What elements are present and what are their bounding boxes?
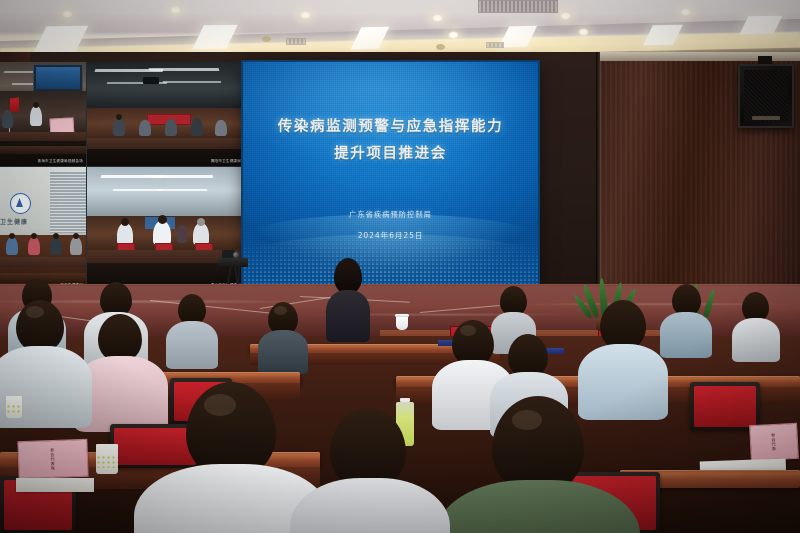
remote-person — [193, 223, 209, 245]
video-conference-wall: 珠海市卫生健康局视频会场 揭阳市卫生健康局 — [0, 62, 244, 290]
tea-cup — [396, 316, 408, 330]
remote-person — [117, 223, 133, 245]
audience-chair[interactable] — [690, 382, 760, 430]
video-panel-2: 揭阳市卫生健康局 — [87, 62, 244, 166]
air-vent-icon — [486, 42, 504, 48]
remote-person-head — [121, 218, 129, 226]
ceiling-speaker-icon — [262, 36, 271, 42]
attendee-head — [600, 300, 646, 350]
air-vent-icon — [478, 0, 558, 13]
remote-person — [165, 119, 177, 136]
panel-seam — [86, 62, 87, 290]
video-panel-label: 揭阳市卫生健康局 — [211, 159, 241, 164]
document-sheet — [16, 478, 94, 492]
remote-person-head — [9, 233, 15, 239]
remote-person-head — [33, 102, 39, 108]
downlight-icon — [432, 14, 443, 22]
remote-person — [2, 110, 13, 128]
remote-person — [30, 106, 42, 126]
hair-highlight — [460, 325, 476, 336]
remote-projector-icon — [143, 77, 159, 84]
attendee-head — [98, 314, 142, 362]
video-panel-label: 珠海市卫生健康局视频会场 — [37, 159, 83, 164]
wall-speaker-icon — [738, 64, 794, 128]
remote-person-head — [53, 233, 59, 239]
paper-cup — [6, 396, 22, 418]
china-flag-icon — [10, 97, 19, 112]
downlight-icon — [680, 8, 691, 16]
name-card-text: 参会代表 — [771, 433, 777, 451]
remote-person-head — [31, 233, 37, 239]
remote-table — [0, 146, 86, 154]
remote-person-head — [197, 218, 205, 226]
hair-highlight — [512, 410, 542, 430]
bottle-cap — [400, 398, 411, 402]
downlight-icon — [62, 10, 73, 18]
ceiling-speaker-icon — [436, 44, 445, 50]
remote-person — [113, 118, 125, 136]
remote-sub-screen — [33, 64, 83, 92]
remote-person — [50, 237, 62, 255]
led-pixel-grid — [243, 62, 538, 288]
speaker-grille — [744, 70, 788, 122]
remote-person — [6, 237, 18, 255]
hair-highlight — [204, 394, 236, 416]
hair-highlight — [26, 306, 44, 318]
video-panel-1: 珠海市卫生健康局视频会场 — [0, 62, 86, 166]
cup-floral-pattern — [96, 455, 118, 469]
panel-seam — [0, 166, 244, 167]
remote-person-head — [158, 215, 167, 224]
downlight-icon — [300, 11, 311, 19]
remote-ceiling-light — [150, 175, 213, 178]
tea-cup-lid — [395, 314, 409, 317]
remote-table — [87, 138, 244, 149]
name-card[interactable]: 参会代表席 — [17, 439, 88, 479]
remote-ceiling-light — [149, 68, 220, 71]
paper-cup — [96, 444, 118, 474]
video-panel-3: 卫生健康 市卫生健康局 — [0, 167, 86, 290]
remote-person — [215, 120, 227, 136]
remote-person — [191, 118, 203, 136]
remote-ceiling-light — [157, 189, 208, 191]
remote-table — [0, 132, 86, 141]
speaker-badge — [752, 116, 780, 120]
remote-person-head — [116, 114, 122, 120]
remote-person-head — [73, 233, 79, 239]
remote-person — [153, 221, 171, 245]
hair-highlight — [274, 306, 287, 315]
attendee-torso — [578, 344, 668, 420]
attendee-head — [334, 258, 362, 294]
remote-person — [177, 225, 187, 243]
attendee-torso — [732, 318, 780, 362]
attendee-torso — [660, 312, 712, 358]
remote-table — [0, 257, 86, 267]
attendee-torso — [258, 330, 308, 374]
remote-ceiling-light — [163, 81, 222, 83]
downlight-icon — [560, 12, 571, 20]
air-vent-icon — [286, 38, 306, 45]
remote-window-blinds — [50, 171, 86, 233]
chair-cushion — [114, 428, 196, 465]
conference-room-photo: 珠海市卫生健康局视频会场 揭阳市卫生健康局 — [0, 0, 800, 533]
remote-person — [139, 120, 151, 136]
downlight-icon — [170, 6, 181, 14]
video-panel-4: 清远市卫生健康局 — [87, 167, 244, 290]
attendee-torso — [166, 321, 218, 369]
name-card-text: 参会代表席 — [50, 448, 56, 471]
remote-wall-text: 卫生健康 — [0, 217, 28, 226]
downlight-icon — [448, 31, 459, 39]
cup-floral-pattern — [6, 404, 22, 414]
main-presentation-screen: 传染病监测预警与应急指挥能力 提升项目推进会 广东省疾病预防控制局 2024年6… — [243, 62, 538, 288]
wall-edge — [596, 52, 601, 302]
name-card[interactable]: 参会代表 — [749, 423, 799, 461]
chair-cushion — [694, 386, 756, 427]
downlight-icon — [578, 28, 589, 36]
attendee-torso — [326, 290, 370, 342]
remote-sub-screen-image — [36, 67, 80, 89]
remote-person — [70, 237, 82, 255]
remote-person — [28, 237, 40, 255]
